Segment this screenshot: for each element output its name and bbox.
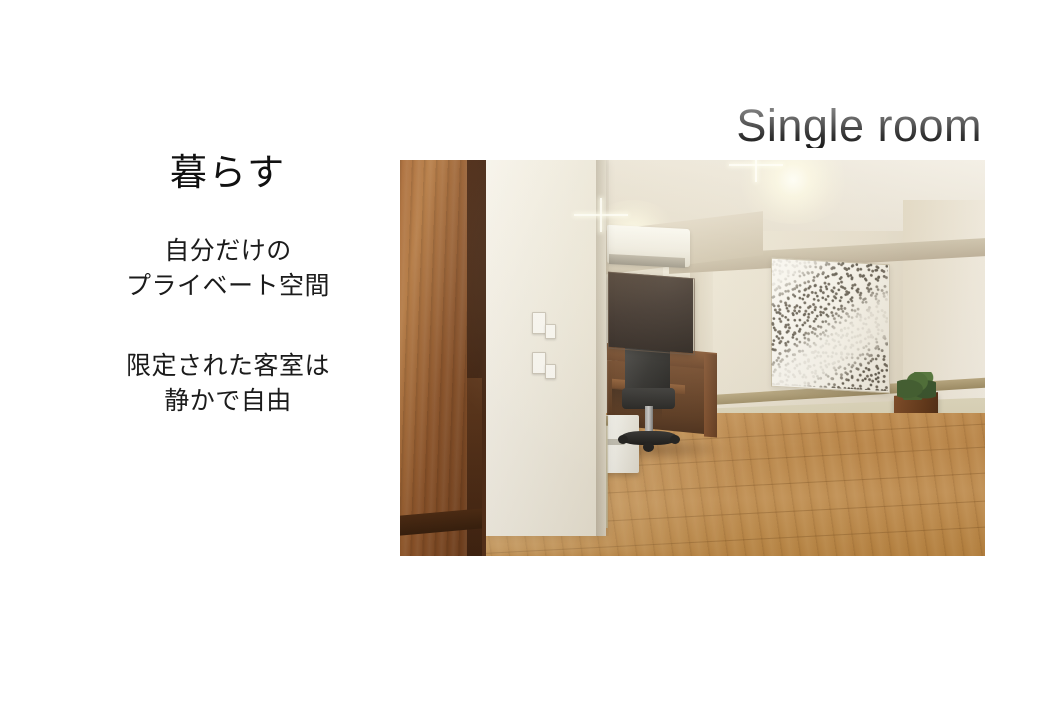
paragraph-line: 限定された客室は bbox=[78, 348, 378, 384]
downlight-flare-icon bbox=[596, 210, 606, 220]
light-switch-plate bbox=[545, 324, 556, 339]
partition-wall bbox=[486, 160, 606, 536]
slide-canvas: 暮らす 自分だけの プライベート空間 限定された客室は 静かで自由 Single… bbox=[0, 0, 1040, 720]
paragraph-private-space: 自分だけの プライベート空間 bbox=[78, 233, 378, 304]
room-photo bbox=[400, 160, 985, 556]
paragraph-line: 静かで自由 bbox=[78, 383, 378, 419]
light-switch-plate bbox=[545, 364, 556, 379]
page-title: 暮らす bbox=[78, 152, 378, 195]
artwork-floral-pattern bbox=[771, 258, 888, 391]
paragraph-line: プライベート空間 bbox=[78, 268, 378, 304]
paragraph-line: 自分だけの bbox=[78, 233, 378, 269]
television-bezel bbox=[608, 271, 695, 355]
potted-plant-icon bbox=[897, 372, 936, 400]
downlight-flare-icon bbox=[751, 160, 761, 170]
text-column: 暮らす 自分だけの プライベート空間 限定された客室は 静かで自由 bbox=[78, 152, 378, 419]
wood-door bbox=[400, 160, 467, 556]
room-title: Single room bbox=[736, 103, 982, 148]
desk-side-panel bbox=[704, 354, 717, 438]
paragraph-limited-rooms: 限定された客室は 静かで自由 bbox=[78, 348, 378, 419]
